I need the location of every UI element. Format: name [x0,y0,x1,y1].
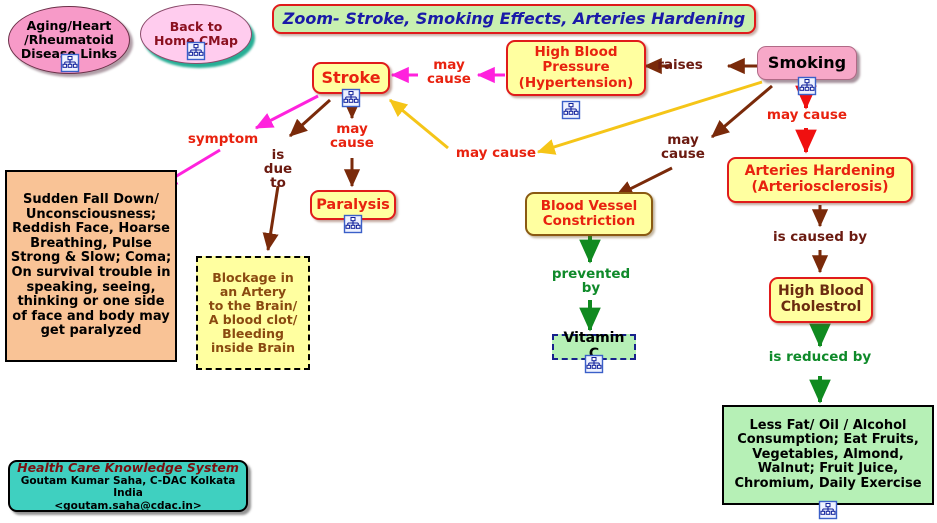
edge-label-stroke-to-blockage: is due to [258,148,298,191]
node-smoking[interactable]: Smoking [757,46,857,80]
node-arteries-hardening-label: Arteries Hardening (Arteriosclerosis) [729,164,911,195]
node-blood-vessel-constriction[interactable]: Blood Vessel Constriction [525,192,653,236]
node-blockage-label: Blockage in an Artery to the Brain/ A bl… [198,271,308,355]
edge-label-stroke-to-paralysis: may cause [322,122,382,150]
node-smoking-label: Smoking [758,54,856,72]
page-title: Zoom- Stroke, Smoking Effects, Arteries … [272,4,756,34]
node-diet-advice[interactable]: Less Fat/ Oil / Alcohol Consumption; Eat… [722,405,934,505]
cmap-tree-icon[interactable] [818,500,838,520]
node-high-blood-cholestrol-label: High Blood Cholestrol [771,284,871,315]
edge-label-stroke-to-symptoms: symptom [178,132,268,146]
node-paralysis-label: Paralysis [312,197,394,213]
node-high-blood-pressure-label: High Blood Pressure (Hypertension) [508,45,644,90]
cmap-tree-icon[interactable] [797,76,817,96]
node-high-blood-pressure[interactable]: High Blood Pressure (Hypertension) [506,40,646,96]
node-stroke-symptoms[interactable]: Sudden Fall Down/ Unconsciousness; Reddi… [5,170,177,362]
credit-box: Health Care Knowledge System Goutam Kuma… [8,460,248,512]
cmap-tree-icon[interactable] [186,41,206,61]
edge-label-cholestrol-to-diet: is reduced by [752,350,888,364]
cmap-tree-icon[interactable] [341,88,361,108]
cmap-tree-icon[interactable] [561,100,581,120]
edge-label-hbp-to-stroke: may cause [420,58,478,86]
node-high-blood-cholestrol[interactable]: High Blood Cholestrol [769,277,873,323]
credit-line-1: Health Care Knowledge System [17,460,239,475]
edge-label-smoking-to-stroke: may cause [448,146,544,160]
edge-label-arteries-to-cholestrol: is caused by [752,230,888,244]
edge-label-smoking-to-arteries-hardening: may cause [755,108,859,122]
cmap-tree-icon[interactable] [343,214,363,234]
credit-line-3: <goutam.saha@cdac.in> [54,500,201,513]
cmap-tree-icon[interactable] [584,354,604,374]
edge-label-smoking-raises-hbp: raises [645,58,715,72]
node-blockage-in-artery[interactable]: Blockage in an Artery to the Brain/ A bl… [196,256,310,370]
node-diet-advice-label: Less Fat/ Oil / Alcohol Consumption; Eat… [724,419,932,492]
page-title-text: Zoom- Stroke, Smoking Effects, Arteries … [274,10,754,28]
node-stroke-symptoms-label: Sudden Fall Down/ Unconsciousness; Reddi… [7,193,175,338]
concept-map-canvas: Zoom- Stroke, Smoking Effects, Arteries … [0,0,937,523]
node-blood-vessel-constriction-label: Blood Vessel Constriction [527,199,651,229]
edge-label-bvc-to-vitamin-c: prevented by [543,267,639,295]
node-arteries-hardening[interactable]: Arteries Hardening (Arteriosclerosis) [727,157,913,203]
credit-line-2: Goutam Kumar Saha, C-DAC Kolkata India [10,475,246,500]
edge-label-smoking-to-blood-vessel-constriction: may cause [653,133,713,161]
node-stroke-label: Stroke [314,69,388,87]
cmap-tree-icon[interactable] [60,53,80,73]
